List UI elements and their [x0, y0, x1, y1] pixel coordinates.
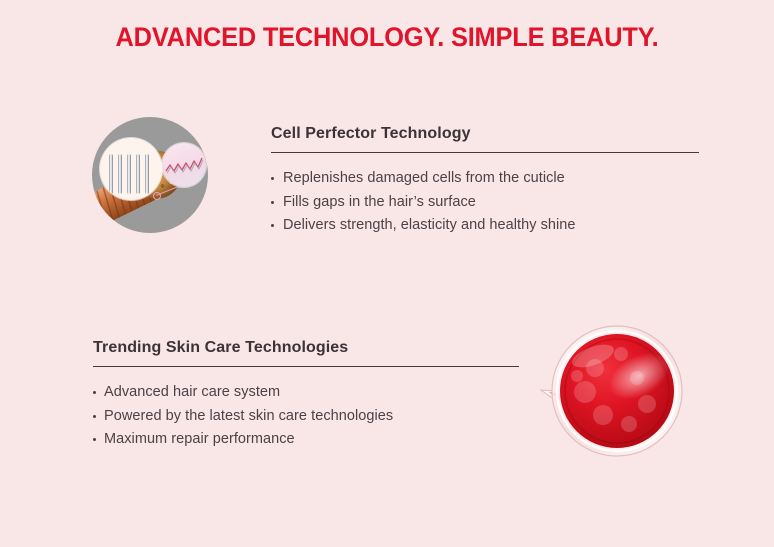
poster-canvas: ADVANCED TECHNOLOGY. SIMPLE BEAUTY. — [0, 0, 774, 547]
heading-divider — [271, 152, 699, 153]
beaker-graphic — [533, 320, 698, 465]
list-item: Advanced hair care system — [93, 381, 519, 404]
section-heading: Trending Skin Care Technologies — [93, 338, 519, 357]
list-item: Replenishes damaged cells from the cutic… — [271, 167, 699, 190]
repair-rods-group — [109, 154, 155, 194]
list-item: Maximum repair performance — [93, 428, 519, 451]
repair-rod — [136, 154, 140, 194]
page-title: ADVANCED TECHNOLOGY. SIMPLE BEAUTY. — [23, 22, 751, 53]
molecule-magnifier-inset — [162, 143, 206, 187]
molecule-chain-icon — [162, 143, 206, 187]
cuticle-magnifier-inset — [100, 138, 162, 200]
repair-rod — [118, 154, 122, 194]
list-item: Delivers strength, elasticity and health… — [271, 214, 699, 237]
section-cell-perfector: Cell Perfector Technology Replenishes da… — [0, 110, 774, 270]
trending-skin-care-text-block: Trending Skin Care Technologies Advanced… — [93, 338, 519, 452]
repair-rod — [127, 154, 131, 194]
heading-divider — [93, 366, 519, 367]
cell-perfector-text-block: Cell Perfector Technology Replenishes da… — [271, 124, 699, 238]
hair-cuticle-illustration — [92, 117, 208, 233]
red-liquid-beaker — [533, 320, 698, 465]
list-item: Fills gaps in the hair’s surface — [271, 191, 699, 214]
section-trending-skin-care: Trending Skin Care Technologies Advanced… — [0, 320, 774, 490]
repair-rod — [145, 154, 149, 194]
trending-skin-care-bullet-list: Advanced hair care system Powered by the… — [93, 381, 519, 451]
cell-perfector-bullet-list: Replenishes damaged cells from the cutic… — [271, 167, 699, 237]
section-heading: Cell Perfector Technology — [271, 124, 699, 143]
list-item: Powered by the latest skin care technolo… — [93, 405, 519, 428]
repair-rod — [109, 154, 113, 194]
